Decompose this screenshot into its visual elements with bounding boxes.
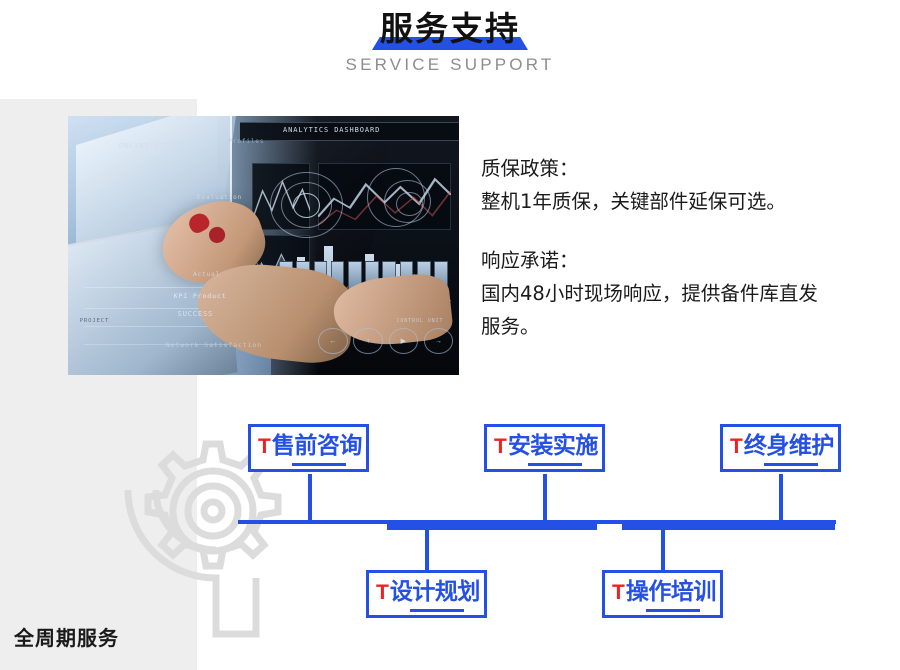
photo-nav-play-icon: ▶ bbox=[389, 328, 418, 354]
warranty-heading: 质保政策： bbox=[481, 152, 881, 185]
diagram-node-presales[interactable]: T 售前咨询 bbox=[248, 424, 369, 472]
page-subtitle-en: SERVICE SUPPORT bbox=[0, 55, 900, 75]
diagram-spine-segment bbox=[387, 523, 597, 530]
diagram-stem-down bbox=[425, 522, 429, 570]
diagram-node-lifetime-maintenance[interactable]: T 终身维护 bbox=[720, 424, 841, 472]
response-line-1: 国内48小时现场响应，提供备件库直发 bbox=[481, 277, 881, 310]
diagram-stem-up bbox=[543, 474, 547, 522]
diagram-node-label: 终身维护 bbox=[744, 434, 834, 458]
response-heading: 响应承诺： bbox=[481, 244, 881, 277]
response-line-2: 服务。 bbox=[481, 310, 881, 343]
diagram-stem-down bbox=[661, 522, 665, 570]
diagram-node-label: 操作培训 bbox=[626, 580, 716, 604]
diagram-stem-up bbox=[308, 474, 312, 522]
page-header: 服务支持 SERVICE SUPPORT bbox=[0, 0, 900, 99]
photo-hud-label: PROJECT bbox=[80, 318, 109, 324]
analytics-dashboard-photo: ← ↑ ▶ → ONLINE:USER A Profiles ANALYTICS… bbox=[68, 116, 459, 375]
photo-hud-label: CONTROL UNIT bbox=[396, 318, 443, 324]
text-marker-icon: T bbox=[376, 582, 389, 603]
diagram-stem-up bbox=[779, 474, 783, 522]
photo-hud-label: ANALYTICS DASHBOARD bbox=[283, 126, 380, 134]
text-marker-icon: T bbox=[612, 582, 625, 603]
page-title-cn: 服务支持 bbox=[380, 9, 520, 48]
service-lifecycle-diagram: T 售前咨询 T 安装实施 T 终身维护 T 设计规划 T 操作培训 bbox=[0, 400, 900, 650]
photo-hud-label: KPI Product bbox=[174, 292, 227, 300]
page-title: 服务支持 bbox=[0, 8, 900, 52]
text-marker-icon: T bbox=[730, 436, 743, 457]
text-marker-icon: T bbox=[258, 436, 271, 457]
diagram-node-label: 设计规划 bbox=[390, 580, 480, 604]
photo-hud-label: Profiles bbox=[228, 138, 264, 145]
diagram-node-label: 售前咨询 bbox=[272, 434, 362, 458]
photo-hud-label: SUCCESS bbox=[177, 310, 213, 318]
photo-hud-label: Network Satisfaction bbox=[166, 341, 262, 349]
service-info-text: 质保政策： 整机1年质保，关键部件延保可选。 响应承诺： 国内48小时现场响应，… bbox=[481, 152, 881, 343]
photo-nav-left-icon: ← bbox=[318, 328, 347, 354]
photo-hud-label: ONLINE:USER A bbox=[119, 142, 186, 150]
diagram-node-design-planning[interactable]: T 设计规划 bbox=[366, 570, 487, 618]
diagram-spine-segment bbox=[622, 523, 835, 530]
photo-hud-label: Actual bbox=[193, 271, 220, 278]
text-marker-icon: T bbox=[494, 436, 507, 457]
diagram-node-label: 安装实施 bbox=[508, 434, 598, 458]
warranty-line-1: 整机1年质保，关键部件延保可选。 bbox=[481, 185, 881, 218]
diagram-node-installation[interactable]: T 安装实施 bbox=[484, 424, 605, 472]
service-support-page: 服务支持 SERVICE SUPPORT 全周期服务 bbox=[0, 0, 900, 670]
diagram-node-operation-training[interactable]: T 操作培训 bbox=[602, 570, 723, 618]
photo-nav-up-icon: ↑ bbox=[353, 328, 382, 354]
photo-hud-label: Evaluation bbox=[197, 194, 242, 201]
